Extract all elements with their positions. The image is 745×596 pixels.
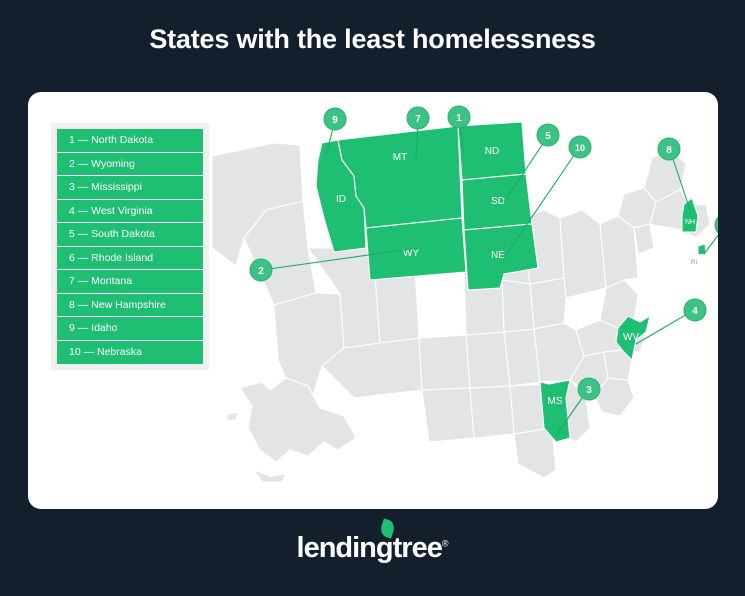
legend-item-1[interactable]: 1 — North Dakota bbox=[57, 129, 203, 153]
registered-mark: ® bbox=[442, 538, 449, 548]
map-marker-6[interactable]: 6 bbox=[715, 214, 718, 236]
state-label-nd: ND bbox=[485, 146, 499, 157]
svg-text:10: 10 bbox=[575, 143, 585, 153]
us-map: MT ND ID SD WY NE WV MS NH RI bbox=[204, 98, 718, 503]
infographic-card: 1 — North Dakota 2 — Wyoming 3 — Mississ… bbox=[28, 92, 718, 509]
legend-item-3[interactable]: 3 — Mississippi bbox=[57, 176, 203, 200]
logo-text-lending: lending bbox=[297, 532, 393, 564]
legend-item-5[interactable]: 5 — South Dakota bbox=[57, 223, 203, 247]
state-label-nh: NH bbox=[685, 219, 695, 226]
legend-panel: 1 — North Dakota 2 — Wyoming 3 — Mississ… bbox=[51, 123, 209, 370]
logo-text-tree: tree bbox=[393, 532, 442, 564]
map-marker-8[interactable]: 8 bbox=[658, 138, 680, 160]
legend-item-2[interactable]: 2 — Wyoming bbox=[57, 153, 203, 177]
map-marker-1[interactable]: 1 bbox=[448, 106, 470, 128]
state-label-ne: NE bbox=[491, 250, 505, 261]
map-marker-5[interactable]: 5 bbox=[537, 124, 559, 146]
state-new-hampshire bbox=[682, 198, 698, 232]
map-marker-9[interactable]: 9 bbox=[324, 108, 346, 130]
map-marker-3[interactable]: 3 bbox=[578, 378, 600, 400]
map-marker-10[interactable]: 10 bbox=[569, 136, 591, 158]
state-label-mt: MT bbox=[393, 152, 407, 163]
state-alaska-islands bbox=[226, 412, 238, 420]
state-alaska-aleutians bbox=[254, 470, 286, 482]
state-label-wv: WV bbox=[623, 332, 639, 343]
svg-text:1: 1 bbox=[456, 113, 462, 124]
legend-item-4[interactable]: 4 — West Virginia bbox=[57, 200, 203, 224]
svg-text:7: 7 bbox=[415, 114, 421, 125]
svg-text:2: 2 bbox=[258, 266, 264, 277]
page-title: States with the least homelessness bbox=[0, 24, 745, 55]
legend-item-8[interactable]: 8 — New Hampshire bbox=[57, 294, 203, 318]
legend-item-9[interactable]: 9 — Idaho bbox=[57, 317, 203, 341]
legend-item-7[interactable]: 7 — Montana bbox=[57, 270, 203, 294]
map-marker-2[interactable]: 2 bbox=[250, 259, 272, 281]
lendingtree-logo: lendingtree® bbox=[0, 532, 745, 565]
svg-text:3: 3 bbox=[586, 385, 592, 396]
state-label-sd: SD bbox=[491, 196, 505, 207]
map-marker-7[interactable]: 7 bbox=[407, 107, 429, 129]
svg-text:9: 9 bbox=[332, 115, 338, 126]
state-label-id: ID bbox=[336, 194, 346, 205]
svg-text:4: 4 bbox=[692, 306, 698, 317]
legend-item-6[interactable]: 6 — Rhode Island bbox=[57, 247, 203, 271]
map-marker-4[interactable]: 4 bbox=[684, 299, 706, 321]
svg-text:8: 8 bbox=[666, 145, 672, 156]
state-alaska bbox=[240, 378, 356, 462]
svg-text:5: 5 bbox=[545, 131, 551, 142]
state-label-ms: MS bbox=[548, 396, 563, 407]
legend-item-10[interactable]: 10 — Nebraska bbox=[57, 341, 203, 365]
state-label-ri: RI bbox=[691, 260, 697, 266]
